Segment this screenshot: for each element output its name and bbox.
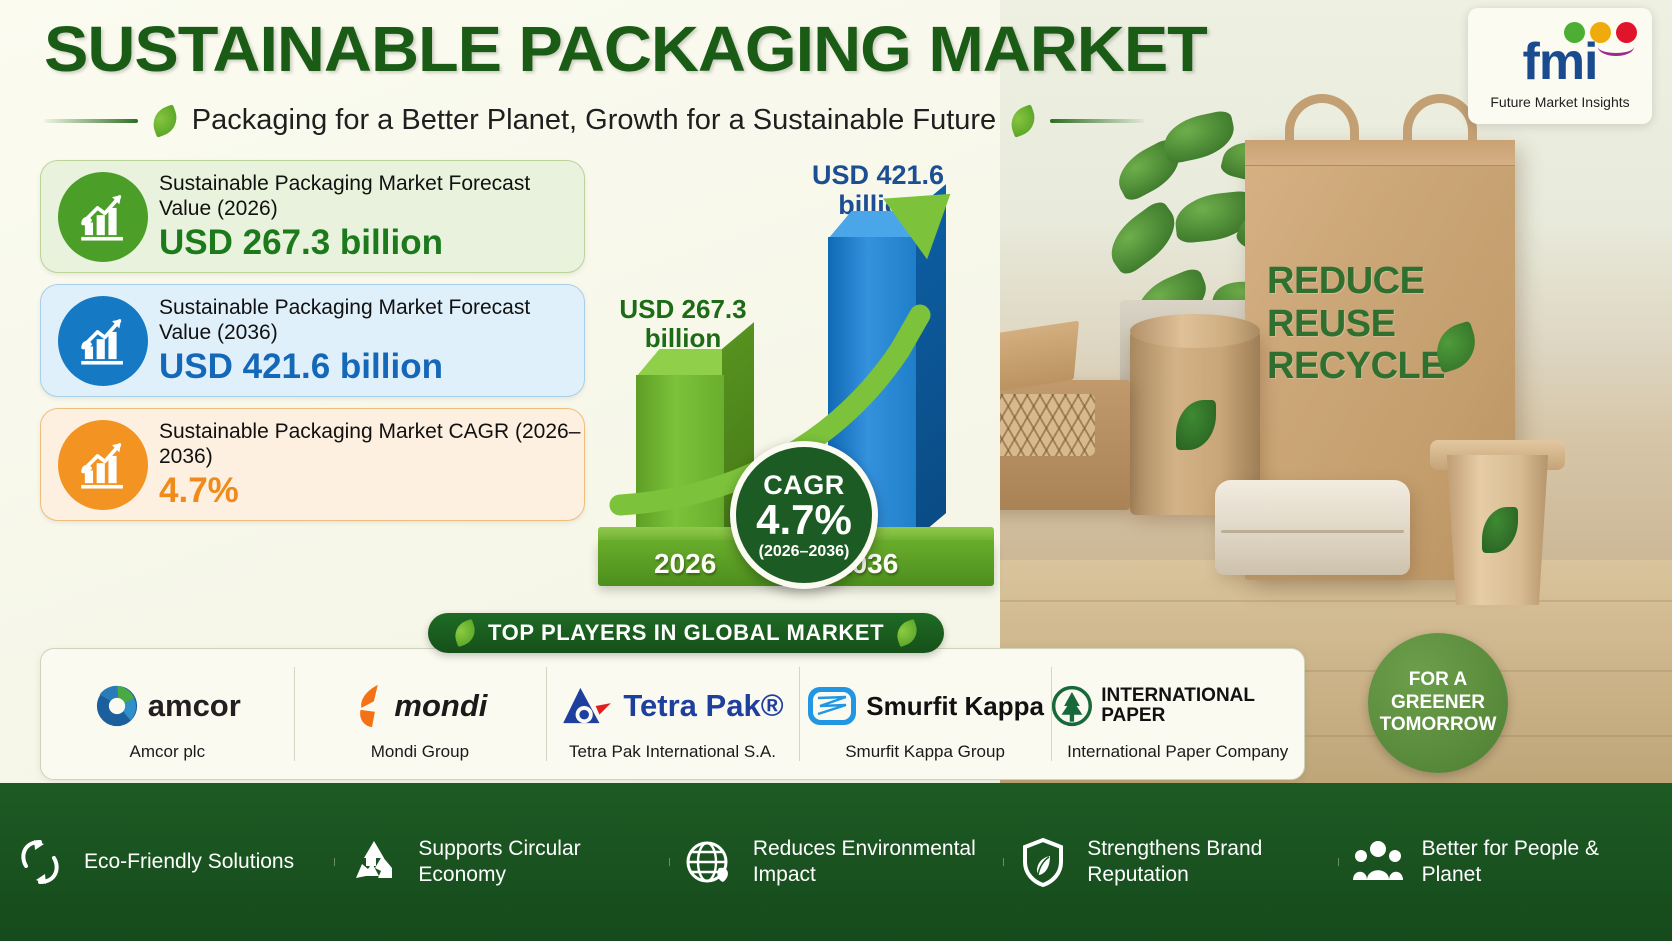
page-subtitle: Packaging for a Better Planet, Growth fo… [192, 104, 996, 137]
player-smurfit-kappa[interactable]: Smurfit Kappa Smurfit Kappa Group [799, 649, 1052, 779]
player-mondi[interactable]: mondi Mondi Group [294, 649, 547, 779]
benefit-people-planet: Better for People & Planet [1338, 836, 1672, 889]
cup-leaf-icon [1482, 507, 1518, 553]
stat-card-forecast-2026[interactable]: Sustainable Packaging Market Forecast Va… [40, 160, 585, 273]
stat-card-label: Sustainable Packaging Market Forecast Va… [159, 171, 584, 221]
recycling-triangle-icon [348, 836, 400, 888]
molded-fiber-clamshell [1215, 480, 1410, 575]
amcor-wordmark: amcor [148, 688, 241, 724]
player-name: Smurfit Kappa Group [845, 741, 1005, 762]
smurfit-kappa-icon [806, 683, 858, 729]
people-group-icon [1352, 836, 1404, 888]
benefit-environmental-impact: Reduces Environmental Impact [669, 836, 1003, 889]
top-players-panel: amcor Amcor plc mondi Mondi Group [40, 648, 1305, 780]
globe-leaf-icon [683, 836, 735, 888]
divider-right [1050, 119, 1144, 123]
growth-chart-leaf-icon [58, 172, 148, 262]
stat-card-cagr[interactable]: Sustainable Packaging Market CAGR (2026–… [40, 408, 585, 521]
international-paper-logo: INTERNATIONAL PAPER [1051, 681, 1304, 731]
benefit-circular-economy: Supports Circular Economy [334, 836, 668, 889]
stat-cards: Sustainable Packaging Market Forecast Va… [40, 160, 585, 532]
top-players-ribbon: TOP PLAYERS IN GLOBAL MARKET [428, 613, 944, 653]
page-title: SUSTAINABLE PACKAGING MARKET [44, 12, 1207, 86]
growth-chart-leaf-icon [58, 420, 148, 510]
mondi-wordmark: mondi [394, 688, 487, 724]
leaf-icon-left [148, 104, 181, 137]
player-tetra-pak[interactable]: Tetra Pak® Tetra Pak International S.A. [546, 649, 799, 779]
smurfit-kappa-wordmark: Smurfit Kappa [866, 693, 1044, 720]
stat-card-value: 4.7% [159, 471, 584, 510]
amcor-ring-icon [94, 683, 140, 729]
benefit-eco-friendly: Eco-Friendly Solutions [0, 836, 334, 888]
mondi-logo: mondi [352, 681, 487, 731]
header: SUSTAINABLE PACKAGING MARKET Packaging f… [0, 0, 1340, 150]
kraft-coffee-cup [1440, 455, 1555, 605]
axis-tick-2026: 2026 [654, 548, 716, 580]
benefit-brand-reputation: Strengthens Brand Reputation [1003, 836, 1337, 889]
benefits-bar: Eco-Friendly Solutions Supports Circular… [0, 783, 1672, 941]
stat-card-forecast-2036[interactable]: Sustainable Packaging Market Forecast Va… [40, 284, 585, 397]
player-name: Mondi Group [371, 741, 469, 762]
amcor-logo: amcor [94, 681, 241, 731]
benefit-label: Better for People & Planet [1422, 836, 1658, 889]
leaf-icon [451, 619, 479, 647]
bar-2026 [636, 375, 724, 540]
tube-leaf-icon [1176, 400, 1216, 450]
stat-card-label: Sustainable Packaging Market Forecast Va… [159, 295, 584, 345]
benefit-label: Eco-Friendly Solutions [84, 849, 294, 875]
leaf-icon [893, 619, 921, 647]
player-amcor[interactable]: amcor Amcor plc [41, 649, 294, 779]
cagr-period: (2026–2036) [759, 543, 850, 561]
infographic-root: REDUCE REUSE RECYCLE SUSTAINABLE PACKAGI… [0, 0, 1672, 941]
fmi-smile-icon [1598, 38, 1634, 56]
cagr-value: 4.7% [756, 499, 852, 541]
benefit-label: Supports Circular Economy [418, 836, 654, 889]
mondi-flame-icon [352, 683, 392, 729]
international-paper-wordmark: INTERNATIONAL PAPER [1101, 686, 1304, 727]
benefit-label: Reduces Environmental Impact [753, 836, 989, 889]
tetra-pak-logo: Tetra Pak® [561, 681, 783, 731]
stat-card-value: USD 267.3 billion [159, 223, 584, 262]
player-name: Amcor plc [130, 741, 206, 762]
cagr-badge: CAGR 4.7% (2026–2036) [730, 441, 878, 589]
top-players-ribbon-label: TOP PLAYERS IN GLOBAL MARKET [488, 620, 884, 646]
player-name: Tetra Pak International S.A. [569, 741, 776, 762]
smurfit-kappa-logo: Smurfit Kappa [806, 681, 1044, 731]
stat-card-value: USD 421.6 billion [159, 347, 584, 386]
player-international-paper[interactable]: INTERNATIONAL PAPER International Paper … [1051, 649, 1304, 779]
bag-slogan-text: REDUCE REUSE RECYCLE [1267, 260, 1515, 388]
international-paper-tree-icon [1051, 683, 1093, 729]
benefit-label: Strengthens Brand Reputation [1087, 836, 1323, 889]
stat-card-label: Sustainable Packaging Market CAGR (2026–… [159, 419, 584, 469]
leaf-icon-right [1007, 104, 1040, 137]
fmi-tagline: Future Market Insights [1490, 94, 1629, 110]
tetra-pak-triangle-icon [561, 685, 615, 727]
forecast-bar-chart: USD 267.3 billion USD 421.6 billion 2026… [580, 165, 1020, 605]
fmi-logo[interactable]: fmi Future Market Insights [1468, 8, 1652, 124]
shield-leaf-icon [1017, 836, 1069, 888]
growth-chart-leaf-icon [58, 296, 148, 386]
divider-left [44, 119, 138, 123]
tetra-pak-wordmark: Tetra Pak® [623, 688, 783, 724]
player-name: International Paper Company [1067, 741, 1288, 762]
recycle-arrows-icon [14, 836, 66, 888]
greener-tomorrow-badge: FOR A GREENER TOMORROW [1368, 633, 1508, 773]
subtitle-row: Packaging for a Better Planet, Growth fo… [44, 104, 1144, 137]
